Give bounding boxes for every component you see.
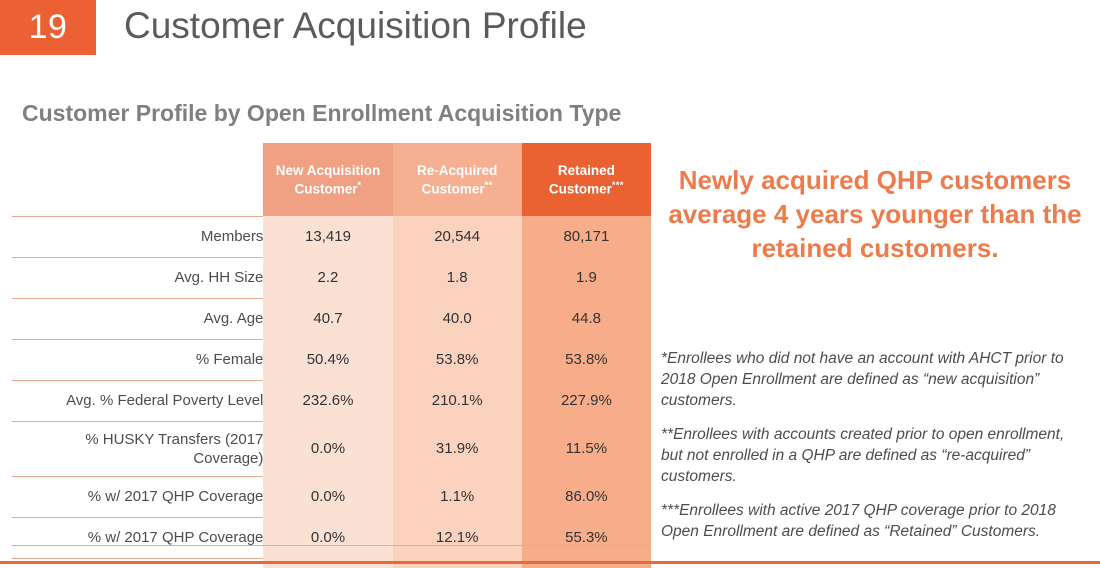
slide-number-badge: 19 [0, 0, 96, 55]
page-title: Customer Acquisition Profile [124, 0, 587, 55]
row-value: 44.8 [522, 298, 651, 339]
row-value: 40.0 [393, 298, 522, 339]
footnote-new-acquisition: *Enrollees who did not have an account w… [661, 348, 1086, 411]
table-row: Members 13,419 20,544 80,171 [12, 216, 651, 257]
row-label: % Female [12, 339, 263, 380]
table-row: Avg. HH Size 2.2 1.8 1.9 [12, 257, 651, 298]
row-value: 1.1% [393, 476, 522, 517]
table-body: Members 13,419 20,544 80,171 Avg. HH Siz… [12, 216, 651, 568]
table-row: % w/ 2017 QHP Coverage 0.0% 12.1% 55.3% [12, 517, 651, 558]
column-header-label: Retained Customer [549, 163, 615, 197]
slide-canvas: 19 Customer Acquisition Profile Customer… [0, 0, 1100, 568]
row-value: 55.3% [522, 517, 651, 558]
row-label: Members [12, 216, 263, 257]
footnotes-block: *Enrollees who did not have an account w… [661, 348, 1086, 542]
column-header-re-acquired: Re-Acquired Customer** [393, 143, 522, 216]
row-label: % w/ 2017 QHP Coverage [12, 476, 263, 517]
row-value: 40.7 [263, 298, 392, 339]
table-bottom-rule [12, 545, 651, 546]
row-value: 80,171 [522, 216, 651, 257]
row-value: 11.5% [522, 421, 651, 476]
column-header-new-acquisition: New Acquisition Customer* [263, 143, 392, 216]
row-value: 20,544 [393, 216, 522, 257]
row-value: 53.8% [522, 339, 651, 380]
row-value: 53.8% [393, 339, 522, 380]
row-value: 13,419 [263, 216, 392, 257]
table-header-row: New Acquisition Customer* Re-Acquired Cu… [12, 143, 651, 216]
column-header-marker: *** [612, 180, 624, 190]
table-row: % w/ 2017 QHP Coverage 0.0% 1.1% 86.0% [12, 476, 651, 517]
row-value: 50.4% [263, 339, 392, 380]
row-label: Avg. % Federal Poverty Level [12, 380, 263, 421]
row-value: 0.0% [263, 421, 392, 476]
customer-profile-table: New Acquisition Customer* Re-Acquired Cu… [12, 143, 651, 568]
table-row: Avg. % Federal Poverty Level 232.6% 210.… [12, 380, 651, 421]
row-value: 86.0% [522, 476, 651, 517]
slide-header: 19 Customer Acquisition Profile [0, 0, 1100, 56]
bottom-accent-bar [0, 561, 1100, 564]
row-value: 0.0% [263, 517, 392, 558]
row-value: 210.1% [393, 380, 522, 421]
row-value: 1.9 [522, 257, 651, 298]
table-row: % Female 50.4% 53.8% 53.8% [12, 339, 651, 380]
column-header-marker: * [357, 180, 361, 190]
column-header-retained: Retained Customer*** [522, 143, 651, 216]
table-row: Avg. Age 40.7 40.0 44.8 [12, 298, 651, 339]
row-value: 0.0% [263, 476, 392, 517]
row-label: % HUSKY Transfers (2017 Coverage) [12, 421, 263, 476]
row-value: 2.2 [263, 257, 392, 298]
row-value: 12.1% [393, 517, 522, 558]
row-value: 1.8 [393, 257, 522, 298]
row-value: 227.9% [522, 380, 651, 421]
section-subtitle: Customer Profile by Open Enrollment Acqu… [22, 100, 621, 127]
table-header: New Acquisition Customer* Re-Acquired Cu… [12, 143, 651, 216]
table-corner-cell [12, 143, 263, 216]
row-label: Avg. Age [12, 298, 263, 339]
footnote-retained: ***Enrollees with active 2017 QHP covera… [661, 500, 1086, 542]
table-row: % HUSKY Transfers (2017 Coverage) 0.0% 3… [12, 421, 651, 476]
column-header-marker: ** [485, 180, 493, 190]
row-value: 31.9% [393, 421, 522, 476]
callout-highlight: Newly acquired QHP customers average 4 y… [660, 163, 1090, 265]
footnote-re-acquired: **Enrollees with accounts created prior … [661, 424, 1086, 487]
column-header-label: New Acquisition Customer [276, 163, 381, 197]
row-label: % w/ 2017 QHP Coverage [12, 517, 263, 558]
row-value: 232.6% [263, 380, 392, 421]
row-label: Avg. HH Size [12, 257, 263, 298]
